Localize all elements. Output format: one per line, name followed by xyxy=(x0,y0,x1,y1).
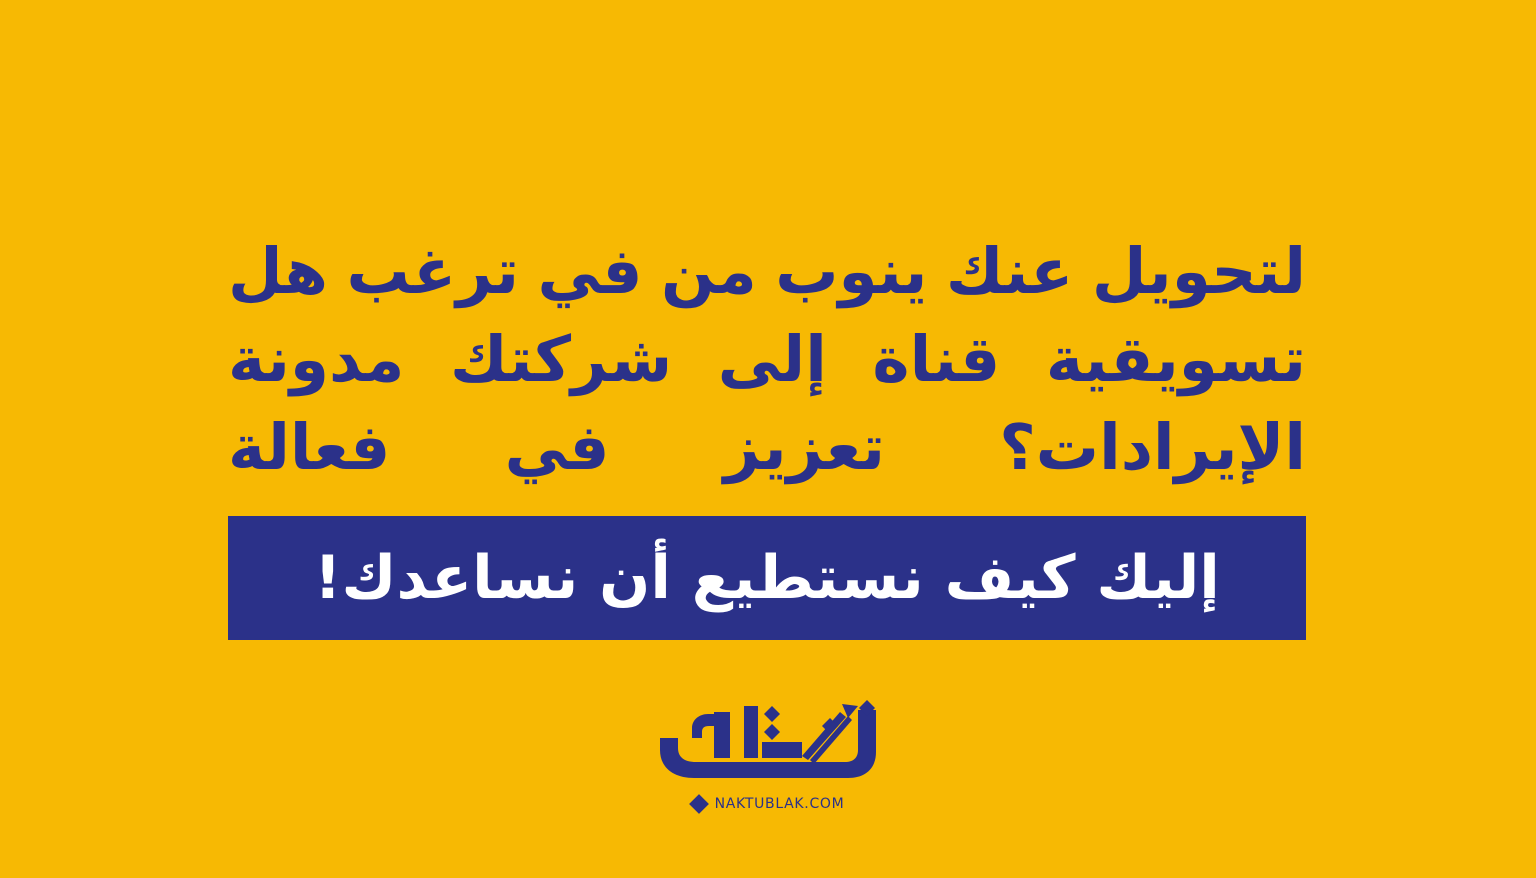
naktublak-wordmark xyxy=(652,698,884,780)
headline-line-1-word: من xyxy=(661,228,757,316)
emphasis-banner: إليك كيف نستطيع أن نساعدك! xyxy=(228,516,1306,640)
headline-block: لتحويل عنك ينوب من في ترغب هل تسويقية قن… xyxy=(228,228,1306,492)
headline-line-2-word: إلى xyxy=(718,316,827,404)
logo-lockup: NAKTUBLAK.COM xyxy=(0,698,1536,812)
headline-line-3-word: فعالة xyxy=(228,404,390,492)
poster-canvas: لتحويل عنك ينوب من في ترغب هل تسويقية قن… xyxy=(0,0,1536,878)
headline-line-3-word: في xyxy=(505,404,610,492)
headline-line-1-word: لتحويل xyxy=(1092,228,1306,316)
headline-line-2: تسويقية قناة إلى شركتك مدونة xyxy=(228,316,1306,404)
headline-line-1-word: عنك xyxy=(946,228,1073,316)
banner-text: إليك كيف نستطيع أن نساعدك! xyxy=(314,547,1220,610)
headline-line-3-word: تعزيز xyxy=(724,404,885,492)
headline-line-3: الإيرادات؟ تعزيز في فعالة xyxy=(228,404,1306,492)
diamond-bullet-icon xyxy=(689,794,709,814)
headline-line-1-word: ترغب xyxy=(346,228,519,316)
logo-domain-text: NAKTUBLAK.COM xyxy=(715,796,845,812)
headline-line-1-word: هل xyxy=(228,228,328,316)
headline-line-2-word: مدونة xyxy=(228,316,404,404)
headline-line-1-word: ينوب xyxy=(775,228,927,316)
logo-domain-row: NAKTUBLAK.COM xyxy=(692,796,845,812)
headline-line-2-word: تسويقية xyxy=(1046,316,1306,404)
headline-line-2-word: قناة xyxy=(872,316,1000,404)
headline-line-3-word: الإيرادات؟ xyxy=(999,404,1306,492)
headline-line-1: لتحويل عنك ينوب من في ترغب هل xyxy=(228,228,1306,316)
headline-line-2-word: شركتك xyxy=(450,316,672,404)
headline-line-1-word: في xyxy=(538,228,643,316)
